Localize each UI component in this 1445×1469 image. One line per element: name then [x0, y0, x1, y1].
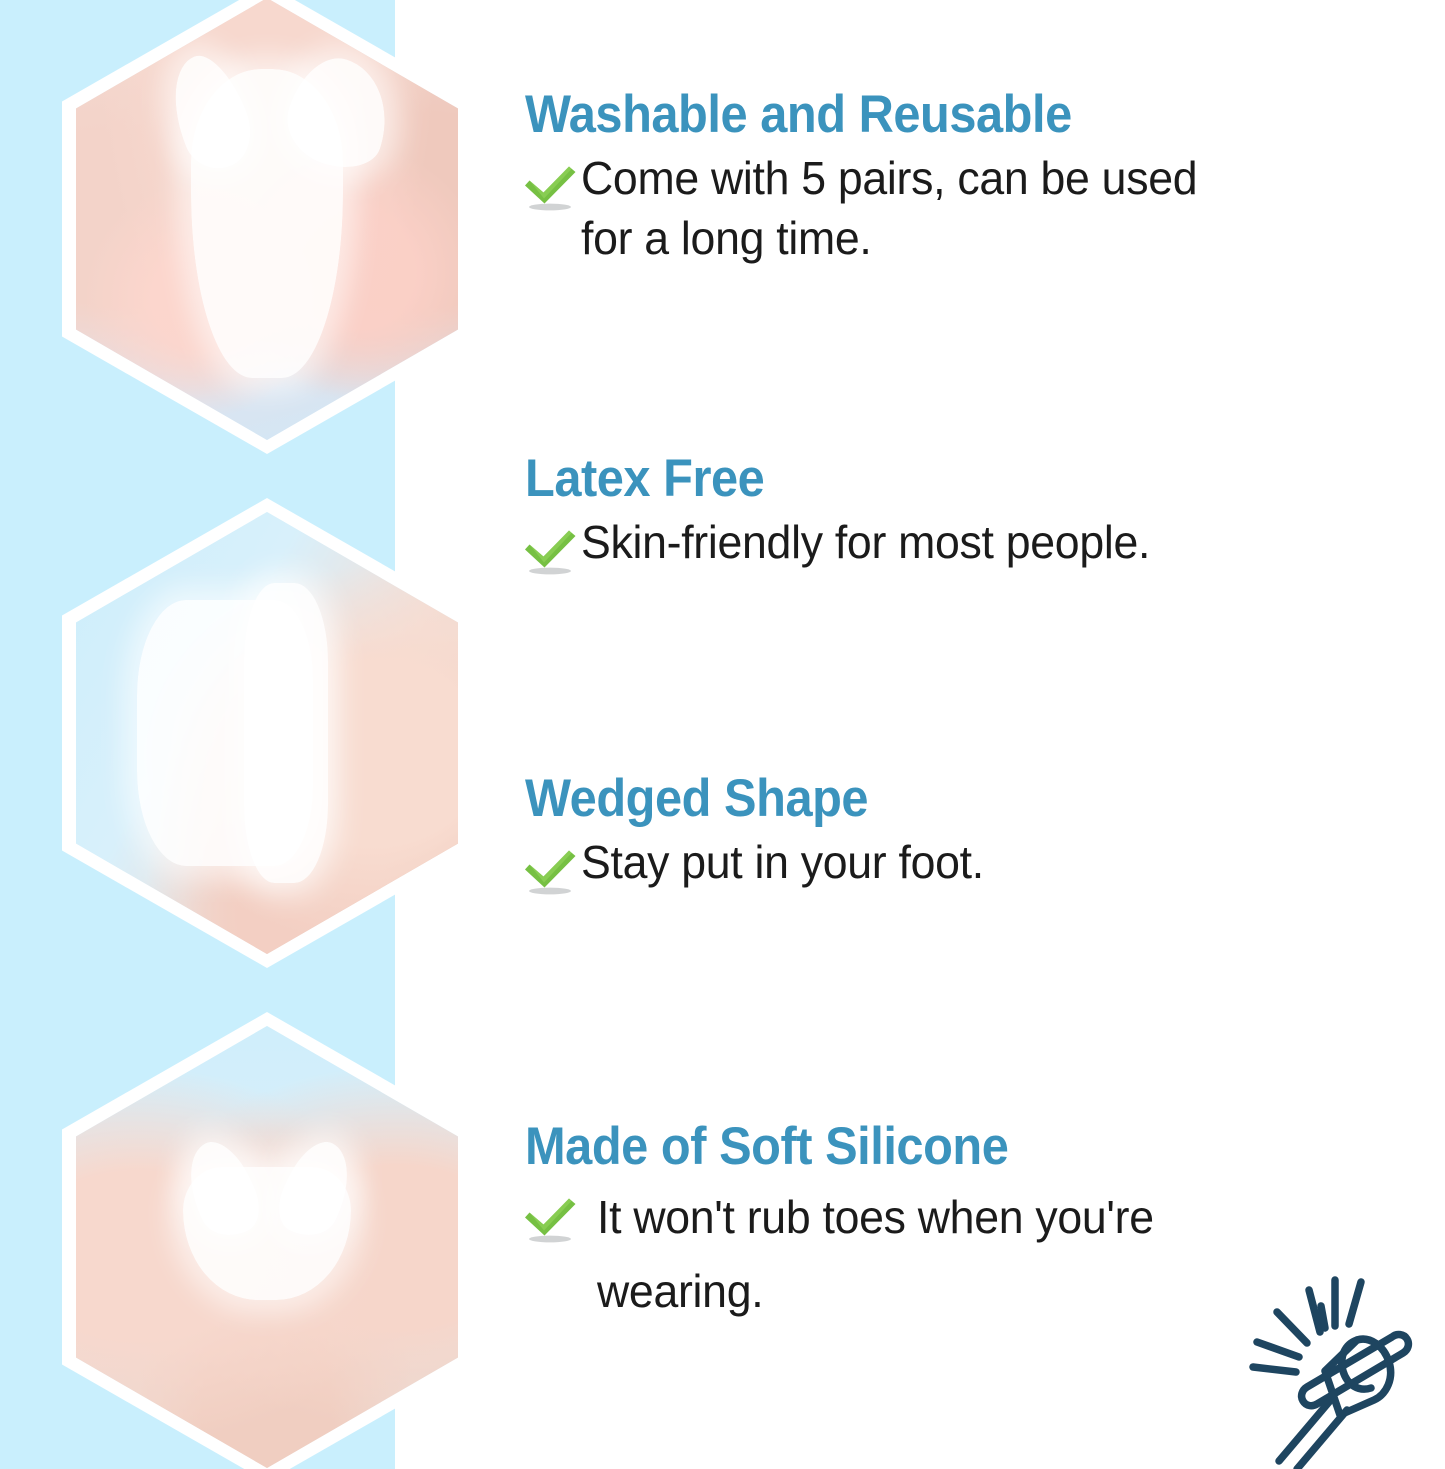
- hex-photo-toe-spacer-held: [62, 498, 472, 968]
- feature-title: Latex Free: [525, 450, 1371, 507]
- feature-block-wedged-shape: Wedged Shape Stay put in your foot.: [515, 770, 1445, 897]
- feature-bullet-text: Come with 5 pairs, can be used for a lon…: [581, 149, 1197, 269]
- green-check-icon: [519, 525, 581, 577]
- green-check-icon: [519, 845, 581, 897]
- product-feature-infographic: Washable and Reusable Come with 5 pairs,…: [0, 0, 1445, 1469]
- feature-bullet-text: Skin-friendly for most people.: [581, 513, 1150, 573]
- green-check-icon: [519, 161, 581, 213]
- feature-block-washable-and-reusable: Washable and Reusable Come with 5 pairs,…: [515, 86, 1445, 269]
- feature-title: Made of Soft Silicone: [525, 1118, 1371, 1175]
- feature-title: Wedged Shape: [525, 770, 1371, 827]
- feature-bullet-text: Stay put in your foot.: [581, 833, 984, 893]
- megaphone-icon: [1239, 1264, 1439, 1469]
- feature-bullet-row: Stay put in your foot.: [519, 833, 1445, 897]
- feature-block-latex-free: Latex Free Skin-friendly for most people…: [515, 450, 1445, 577]
- green-check-icon: [519, 1193, 581, 1245]
- hex-photo-toe-separator-pinched: [62, 0, 472, 454]
- hexagon-photo-column: [0, 0, 500, 1469]
- feature-bullet-row: Skin-friendly for most people.: [519, 513, 1445, 577]
- feature-bullet-row: Come with 5 pairs, can be used for a lon…: [519, 149, 1445, 269]
- feature-title: Washable and Reusable: [525, 86, 1371, 143]
- feature-text-column: Washable and Reusable Come with 5 pairs,…: [515, 0, 1445, 1469]
- silicone-shape: [244, 583, 328, 884]
- feature-bullet-text: It won't rub toes when you're wearing.: [597, 1181, 1154, 1328]
- hex-photo-toe-separator-stretched: [62, 1012, 472, 1469]
